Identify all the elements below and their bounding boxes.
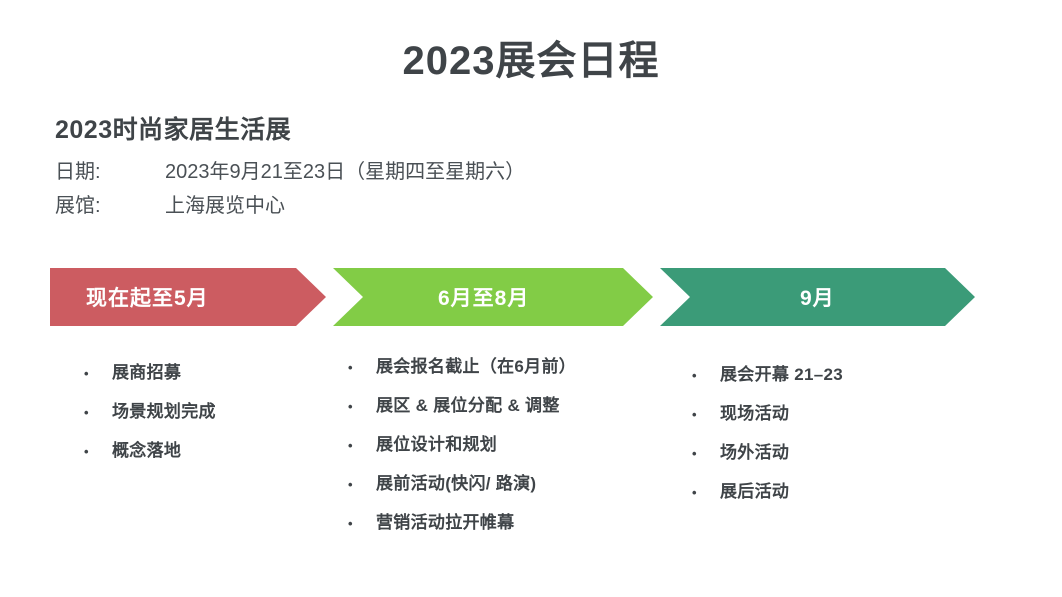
event-info-value-date: 2023年9月21至23日（星期四至星期六） (165, 155, 525, 184)
list-item-label: 概念落地 (112, 436, 181, 461)
list-item: • 展区 & 展位分配 & 调整 (348, 391, 576, 416)
event-info-label-venue: 展馆: (55, 189, 165, 218)
event-summary: 2023时尚家居生活展 日期: 2023年9月21至23日（星期四至星期六） 展… (55, 110, 525, 223)
list-item-label: 展前活动(快闪/ 路演) (376, 469, 536, 494)
phase-chevron-2: 6月至8月 (333, 268, 653, 326)
list-item-label: 展会开幕 21–23 (720, 360, 843, 385)
bullet-dot-icon: • (348, 439, 376, 452)
list-item: • 概念落地 (84, 436, 216, 461)
list-item-label: 展商招募 (112, 358, 181, 383)
event-info-value-venue: 上海展览中心 (165, 189, 285, 218)
phase-chevron-1: 现在起至5月 (50, 268, 326, 326)
list-item: • 营销活动拉开帷幕 (348, 508, 576, 533)
list-item: • 展前活动(快闪/ 路演) (348, 469, 576, 494)
phase-chevron-3: 9月 (660, 268, 975, 326)
list-item: • 展位设计和规划 (348, 430, 576, 455)
list-item: • 场景规划完成 (84, 397, 216, 422)
timeline-phase-band: 现在起至5月 6月至8月 9月 (50, 268, 975, 326)
list-item-label: 展位设计和规划 (376, 430, 497, 455)
event-info-row-venue: 展馆: 上海展览中心 (55, 189, 525, 218)
phase-task-list-1: • 展商招募 • 场景规划完成 • 概念落地 (84, 358, 216, 475)
bullet-dot-icon: • (692, 369, 720, 382)
list-item-label: 营销活动拉开帷幕 (376, 508, 514, 533)
phase-task-list-3: • 展会开幕 21–23 • 现场活动 • 场外活动 • 展后活动 (692, 360, 843, 516)
list-item: • 展会开幕 21–23 (692, 360, 843, 385)
bullet-dot-icon: • (84, 367, 112, 380)
list-item: • 展商招募 (84, 358, 216, 383)
list-item: • 展会报名截止（在6月前） (348, 352, 576, 377)
list-item-label: 场景规划完成 (112, 397, 216, 422)
bullet-dot-icon: • (84, 445, 112, 458)
bullet-dot-icon: • (348, 361, 376, 374)
list-item: • 现场活动 (692, 399, 843, 424)
list-item-label: 现场活动 (720, 399, 789, 424)
bullet-dot-icon: • (348, 517, 376, 530)
list-item-label: 展后活动 (720, 477, 789, 502)
list-item-label: 场外活动 (720, 438, 789, 463)
list-item: • 场外活动 (692, 438, 843, 463)
list-item-label: 展区 & 展位分配 & 调整 (376, 391, 560, 416)
bullet-dot-icon: • (692, 408, 720, 421)
page-title: 2023展会日程 (0, 28, 1062, 86)
list-item-label: 展会报名截止（在6月前） (376, 352, 576, 377)
bullet-dot-icon: • (692, 447, 720, 460)
event-info-row-date: 日期: 2023年9月21至23日（星期四至星期六） (55, 155, 525, 184)
bullet-dot-icon: • (348, 478, 376, 491)
phase-chevron-label-2: 6月至8月 (438, 282, 529, 312)
bullet-dot-icon: • (348, 400, 376, 413)
phase-chevron-label-1: 现在起至5月 (86, 282, 209, 312)
bullet-dot-icon: • (692, 486, 720, 499)
phase-chevron-label-3: 9月 (800, 282, 835, 312)
list-item: • 展后活动 (692, 477, 843, 502)
phase-task-list-2: • 展会报名截止（在6月前） • 展区 & 展位分配 & 调整 • 展位设计和规… (348, 352, 576, 547)
event-name: 2023时尚家居生活展 (55, 110, 525, 146)
event-info-label-date: 日期: (55, 155, 165, 184)
bullet-dot-icon: • (84, 406, 112, 419)
